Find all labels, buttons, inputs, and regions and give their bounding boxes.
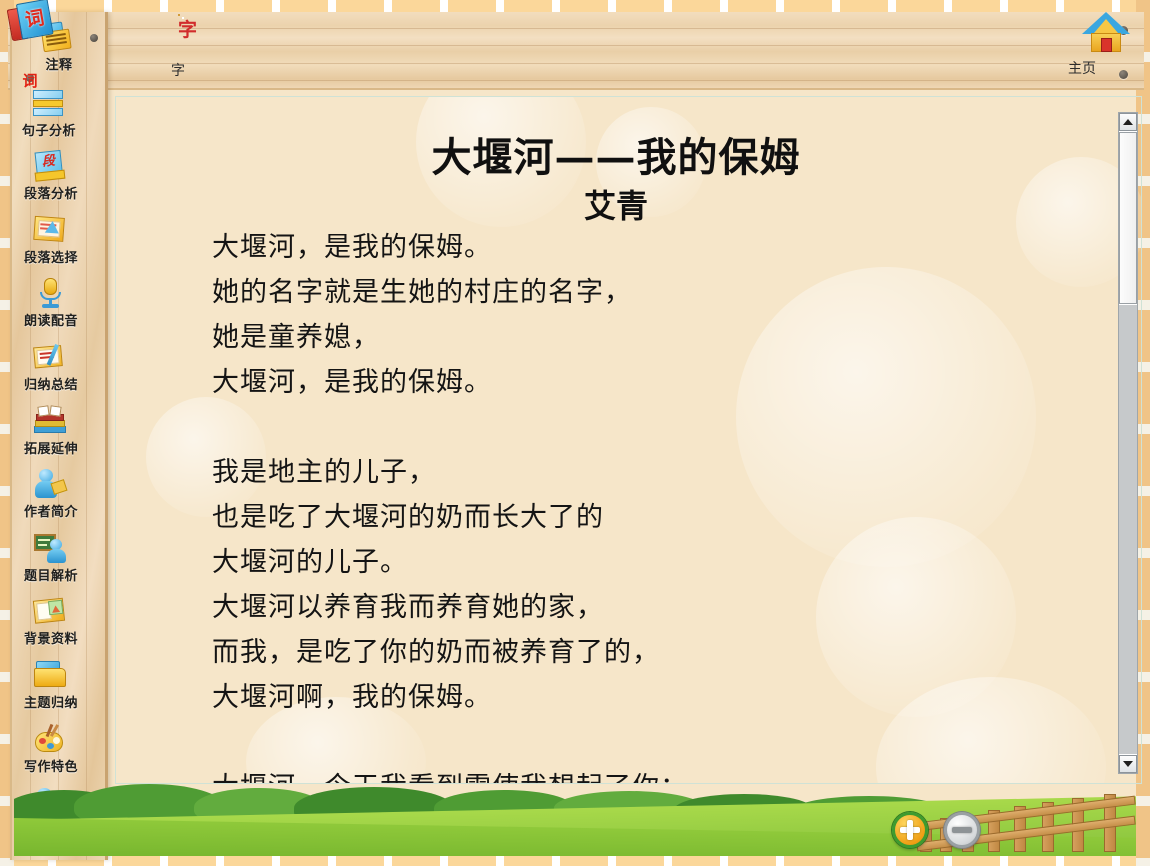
sidebar-item-duanluoxuanze[interactable]: 段落选择 (2, 211, 100, 267)
chevron-down-icon (1123, 761, 1133, 767)
sidebar-item-label: 拓展延伸 (24, 442, 78, 457)
sidebar-item-xiezuotese[interactable]: 写作特色 (2, 720, 100, 776)
folder-icon (2, 656, 100, 694)
poem-line: 她是童养媳， (212, 315, 1111, 360)
poem-line: 我是地主的儿子， (212, 450, 1111, 495)
character-book-icon: 字 (130, 14, 226, 58)
brick-border-bottom (0, 856, 1150, 866)
paragraph-card-icon: 段 (2, 147, 100, 185)
poem-line: 大堰河啊，我的保姆。 (212, 675, 1111, 720)
sidebar-item-label: 段落分析 (24, 187, 78, 202)
tool-home-label: 主页 (1034, 58, 1130, 78)
scroll-up-button[interactable] (1119, 113, 1137, 131)
page-title: 大堰河——我的保姆 (116, 125, 1116, 183)
poem-text-body: 大堰河，是我的保姆。她的名字就是生她的村庄的名字，她是童养媳，大堰河，是我的保姆… (212, 225, 1111, 784)
author-person-icon (2, 465, 100, 503)
sidebar-item-juzifenxi[interactable]: 句子分析 (0, 84, 98, 140)
sidebar-item-label: 题目解析 (24, 569, 78, 584)
home-house-icon (1034, 12, 1130, 56)
dictionary-book-icon: 词 (6, 0, 54, 43)
poem-line: 而我，是吃了你的奶而被养育了的， (212, 630, 1111, 675)
poem-line: 大堰河的儿子。 (212, 540, 1111, 585)
sidebar-item-label: 段落选择 (24, 251, 78, 266)
poem-line: 她的名字就是生她的村庄的名字， (212, 270, 1111, 315)
sidebar-item-label: 作者简介 (24, 505, 78, 520)
poem-line: 大堰河，是我的保姆。 (212, 225, 1111, 270)
sidebar-item-label: 归纳总结 (24, 378, 78, 393)
zoom-controls (892, 812, 980, 848)
plus-icon-vertical (907, 820, 913, 840)
sidebar-item-duanluofenxi[interactable]: 段 段落分析 (2, 147, 100, 203)
poem-blank-line (212, 720, 1111, 765)
sidebar-item-label: 朗读配音 (24, 314, 78, 329)
books-stack-icon (2, 402, 100, 440)
tool-home-button[interactable]: 主页 (1034, 12, 1130, 78)
zoom-in-button[interactable] (892, 812, 928, 848)
content-scrollbar[interactable] (1118, 112, 1138, 774)
palette-icon (2, 720, 100, 758)
scrollbar-thumb[interactable] (1119, 132, 1137, 304)
zoom-out-button[interactable] (944, 812, 980, 848)
sidebar-item-timujiexi[interactable]: 题目解析 (2, 529, 100, 585)
chevron-up-icon (1123, 119, 1133, 125)
lesson-content-panel: 大堰河——我的保姆 艾青 大堰河，是我的保姆。她的名字就是生她的村庄的名字，她是… (115, 96, 1142, 784)
scrollbar-track[interactable] (1119, 305, 1137, 754)
minus-icon (952, 827, 972, 833)
sidebar-item-tuozhanyanshen[interactable]: 拓展延伸 (2, 402, 100, 458)
sidebar-item-label: 句子分析 (22, 124, 76, 139)
sidebar-item-guinazongjie[interactable]: 归纳总结 (2, 338, 100, 394)
scroll-down-button[interactable] (1119, 755, 1137, 773)
poem-line: 大堰河，是我的保姆。 (212, 360, 1111, 405)
picture-folder-icon (2, 592, 100, 630)
paragraph-select-icon (2, 211, 100, 249)
poem-line: 大堰河以养育我而养育她的家， (212, 585, 1111, 630)
sidebar-item-beijingziliao[interactable]: 背景资料 (2, 592, 100, 648)
sidebar-item-zhutiguina[interactable]: 主题归纳 (2, 656, 100, 712)
microphone-icon (2, 274, 100, 312)
sidebar-item-label: 背景资料 (24, 632, 78, 647)
poem-line: 大堰河，今天我看到雪使我想起了你： (212, 765, 1111, 784)
sidebar-item-zuozhejianjie[interactable]: 作者简介 (2, 465, 100, 521)
poem-author: 艾青 (116, 181, 1116, 227)
blackboard-person-icon (2, 529, 100, 567)
sidebar-item-langduopeiyin[interactable]: 朗读配音 (2, 274, 100, 330)
tool-character-button[interactable]: 字 字 (130, 14, 226, 80)
sidebar-item-label: 主题归纳 (24, 696, 78, 711)
app-logo[interactable]: 词 词 (2, 0, 58, 91)
summary-pen-icon (2, 338, 100, 376)
tool-character-label: 字 (130, 60, 226, 80)
sidebar-item-label: 写作特色 (24, 760, 78, 775)
application-window: 字 字 主页 词 词 (0, 0, 1150, 866)
app-logo-label: 词 (2, 70, 58, 91)
poem-blank-line (212, 405, 1111, 450)
poem-line: 也是吃了大堰河的奶而长大了的 (212, 495, 1111, 540)
